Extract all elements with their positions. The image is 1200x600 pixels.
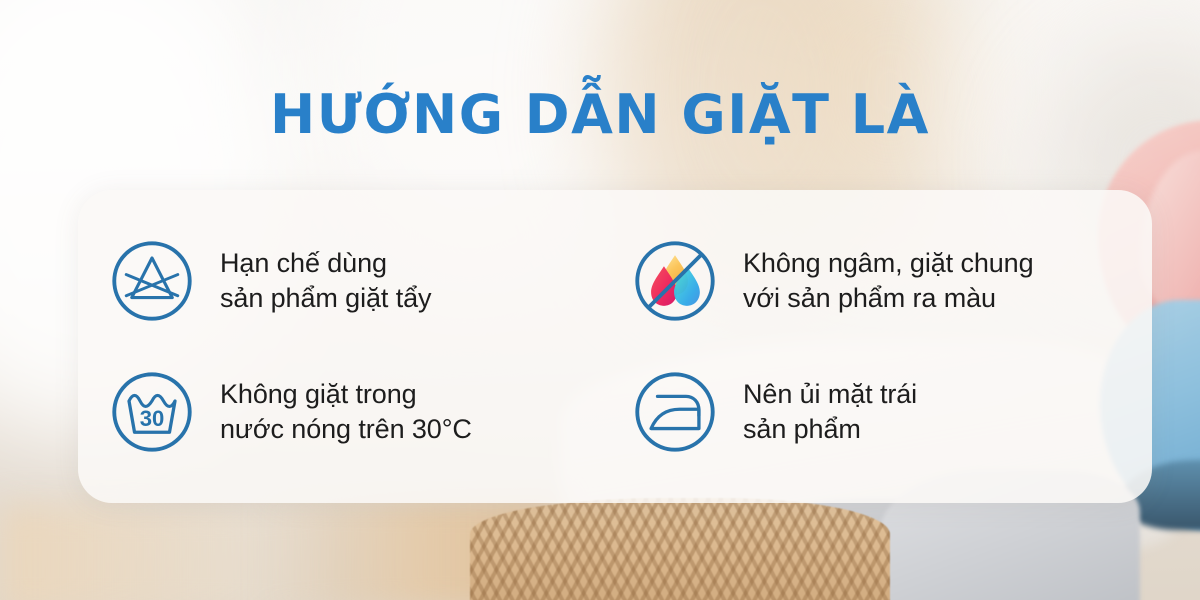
page-title: HƯỚNG DẪN GIẶT LÀ	[0, 88, 1200, 142]
no-color-bleed-drops-icon	[629, 235, 721, 327]
instruction-line-1: Nên ủi mặt trái	[743, 379, 917, 409]
instruction-item-do-not-bleach: Hạn chế dùng sản phẩm giặt tẩy	[78, 216, 601, 347]
wash-temperature-label: 30	[140, 406, 165, 431]
instructions-card: Hạn chế dùng sản phẩm giặt tẩy	[78, 190, 1152, 503]
instruction-item-wash-30: 30 Không giặt trong nước nóng trên 30°C	[78, 347, 601, 478]
instruction-line-1: Hạn chế dùng	[220, 248, 387, 278]
iron-inside-out-icon	[629, 366, 721, 458]
instruction-text: Nên ủi mặt trái sản phẩm	[743, 377, 917, 447]
instruction-item-no-color-bleed: Không ngâm, giặt chung với sản phẩm ra m…	[601, 216, 1124, 347]
instruction-line-2: nước nóng trên 30°C	[220, 412, 472, 447]
infographic-canvas: HƯỚNG DẪN GIẶT LÀ Hạn chế dùng sản phẩm …	[0, 0, 1200, 600]
instruction-item-iron-inside-out: Nên ủi mặt trái sản phẩm	[601, 347, 1124, 478]
do-not-bleach-icon	[106, 235, 198, 327]
instruction-line-2: sản phẩm	[743, 412, 917, 447]
instructions-grid: Hạn chế dùng sản phẩm giặt tẩy	[78, 190, 1152, 503]
instruction-text: Hạn chế dùng sản phẩm giặt tẩy	[220, 246, 431, 316]
wash-30-degrees-icon: 30	[106, 366, 198, 458]
instruction-text: Không giặt trong nước nóng trên 30°C	[220, 377, 472, 447]
instruction-line-2: sản phẩm giặt tẩy	[220, 281, 431, 316]
instruction-text: Không ngâm, giặt chung với sản phẩm ra m…	[743, 246, 1034, 316]
instruction-line-1: Không ngâm, giặt chung	[743, 248, 1034, 278]
instruction-line-2: với sản phẩm ra màu	[743, 281, 1034, 316]
instruction-line-1: Không giặt trong	[220, 379, 417, 409]
